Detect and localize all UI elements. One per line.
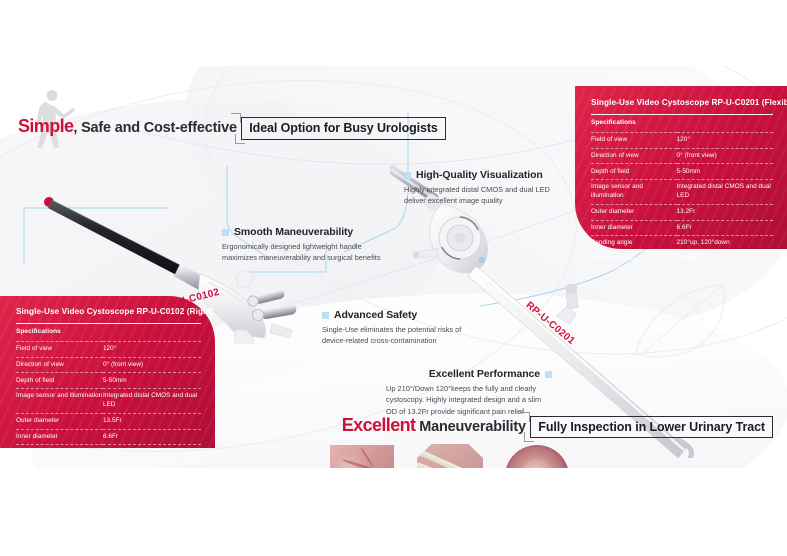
spec-table-flexible: Specifications Field of view 120° Direct… <box>591 114 773 268</box>
spec-value: 0° (front view) <box>677 148 773 164</box>
spec-value: 120° <box>103 341 201 357</box>
headline-top-line2: Ideal Option for Busy Urologists <box>241 117 445 140</box>
callout-excellent-performance-flexible[interactable]: Excellent Performance Up 210°/Down 120°k… <box>386 368 552 417</box>
spec-key: Outer diameter <box>591 204 677 220</box>
spec-value: 13.2Fr <box>677 204 773 220</box>
spec-key: Field of view <box>16 341 103 357</box>
endoscopic-image-1 <box>330 445 394 468</box>
spec-key: Working length <box>16 445 103 461</box>
spec-panel-flexible: Single-Use Video Cystoscope RP-U-C0201 (… <box>575 86 787 249</box>
spec-row: Direction of view 0° (front view) <box>591 148 773 164</box>
spec-table-header-row: Specifications <box>16 324 201 342</box>
spec-value: 5-50mm <box>677 164 773 180</box>
spec-key: Working length <box>591 252 677 268</box>
spec-value: 380mm <box>677 252 773 268</box>
spec-row: Bending angle 210°up, 120°down <box>591 236 773 252</box>
spec-row: Inner diameter 6.6Fr <box>16 429 201 445</box>
callout-title: Excellent Performance <box>429 368 540 380</box>
spec-panel-title: Single-Use Video Cystoscope RP-U-C0201 (… <box>591 98 773 107</box>
spec-key: Bending angle <box>591 236 677 252</box>
callout-body: Ergonomically designed lightweight handl… <box>222 241 390 264</box>
spec-value: 5-50mm <box>103 373 201 389</box>
spec-value: 210°up, 120°down <box>677 236 773 252</box>
callout-smooth-maneuverability[interactable]: Smooth Maneuverability Ergonomically des… <box>222 226 390 264</box>
bracket-corner-icon <box>231 113 241 123</box>
spec-panel-title: Single-Use Video Cystoscope RP-U-C0102 (… <box>16 307 201 316</box>
spec-key: Direction of view <box>591 148 677 164</box>
spec-row: Direction of view 0° (front view) <box>16 357 201 373</box>
bullet-square-icon <box>322 312 329 319</box>
spec-key: Image sensor and illumination <box>16 389 103 413</box>
headline-accent-word: Simple <box>18 116 73 136</box>
callout-title: Smooth Maneuverability <box>234 226 353 238</box>
callout-body: Single-Use eliminates the potential risk… <box>322 324 474 347</box>
spec-header-label: Specifications <box>16 324 103 342</box>
callout-advanced-safety[interactable]: Advanced Safety Single-Use eliminates th… <box>322 309 474 347</box>
spec-value: 0° (front view) <box>103 357 201 373</box>
headline-bottom-line1: Excellent Maneuverability <box>342 415 526 436</box>
spec-key: Image sensor and illumination <box>591 180 677 204</box>
spec-key: Inner diameter <box>591 220 677 236</box>
spec-key: Field of view <box>591 132 677 148</box>
spec-value: Integrated distal CMOS and dual LED <box>677 180 773 204</box>
callout-body: Highly integrated distal CMOS and dual L… <box>404 184 554 207</box>
spec-value: 6.6Fr <box>677 220 773 236</box>
spec-table-header-row: Specifications <box>591 115 773 133</box>
bullet-square-icon <box>222 229 229 236</box>
spec-row: Outer diameter 13.2Fr <box>591 204 773 220</box>
letterbox-top <box>0 0 787 66</box>
headline-rest: Maneuverability <box>415 419 525 435</box>
spec-key: Outer diameter <box>16 413 103 429</box>
letterbox-bottom <box>0 468 787 556</box>
callout-title: High-Quality Visualization <box>416 169 543 181</box>
spec-table-rigid: Specifications Field of view 120° Direct… <box>16 323 201 461</box>
spec-value: 120° <box>677 132 773 148</box>
artwork-stage: High-Quality Visualization Highly integr… <box>0 66 787 468</box>
spec-row: Field of view 120° <box>591 132 773 148</box>
bracket-corner-icon <box>235 134 245 144</box>
spec-row: Depth of field 5-50mm <box>16 373 201 389</box>
spec-row: Image sensor and illumination Integrated… <box>16 389 201 413</box>
spec-row: Inner diameter 6.6Fr <box>591 220 773 236</box>
spec-value: Integrated distal CMOS and dual LED <box>103 389 201 413</box>
headline-bottom-line2: Fully Inspection in Lower Urinary Tract <box>530 416 773 439</box>
spec-value: 13.5Fr <box>103 413 201 429</box>
headline-top: Simple, Safe and Cost-effective Ideal Op… <box>18 114 446 140</box>
spec-row: Depth of field 5-50mm <box>591 164 773 180</box>
bracket-corner-icon <box>524 432 534 442</box>
spec-row: Working length 380mm <box>591 252 773 268</box>
spec-key: Direction of view <box>16 357 103 373</box>
spec-header-label: Specifications <box>591 115 677 133</box>
headline-rest: , Safe and Cost-effective <box>73 120 236 136</box>
spec-row: Outer diameter 13.5Fr <box>16 413 201 429</box>
endoscopic-image-3 <box>505 445 569 468</box>
headline-top-line1: Simple, Safe and Cost-effective <box>18 116 237 137</box>
spec-value: 6.6Fr <box>103 429 201 445</box>
callout-title: Advanced Safety <box>334 309 417 321</box>
spec-row: Working length 230mm <box>16 445 201 461</box>
infographic-canvas: High-Quality Visualization Highly integr… <box>0 0 787 556</box>
spec-panel-rigid: Single-Use Video Cystoscope RP-U-C0102 (… <box>0 296 215 448</box>
spec-key: Inner diameter <box>16 429 103 445</box>
callout-high-quality-visualization[interactable]: High-Quality Visualization Highly integr… <box>404 169 554 207</box>
callout-body: Up 210°/Down 120°keeps the fully and cle… <box>386 383 552 417</box>
spec-value: 230mm <box>103 445 201 461</box>
bullet-square-icon <box>545 371 552 378</box>
spec-row: Field of view 120° <box>16 341 201 357</box>
bullet-square-icon <box>404 172 411 179</box>
headline-accent-word: Excellent <box>342 415 416 435</box>
spec-key: Depth of field <box>591 164 677 180</box>
spec-row: Image sensor and illumination Integrated… <box>591 180 773 204</box>
spec-key: Depth of field <box>16 373 103 389</box>
